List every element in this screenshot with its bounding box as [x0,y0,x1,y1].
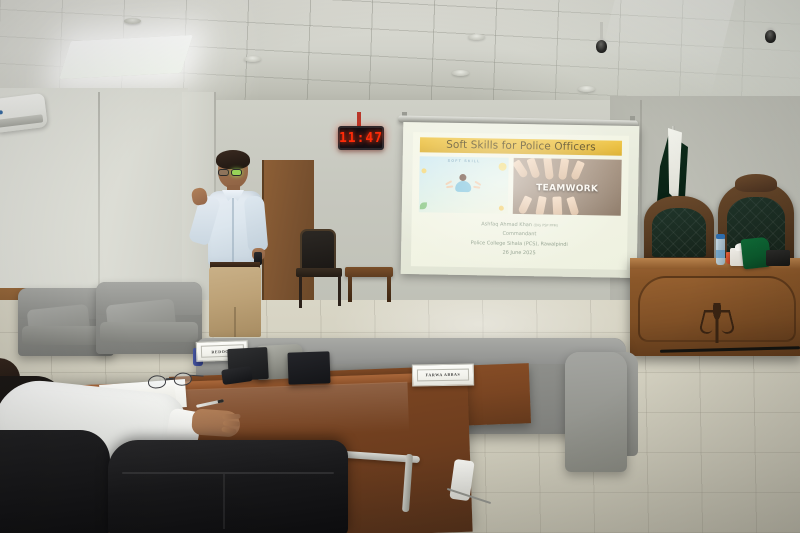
finger [223,420,240,426]
side-table-leg [387,276,391,302]
eyeglasses-icon [218,169,229,176]
soft-skill-label: SOFT SKILL [420,158,509,164]
hand-icon [526,158,540,179]
wooden-side-chair-back [300,229,336,271]
desk-equipment-box [766,250,790,266]
camera-stem [600,22,603,42]
clock-time-display: 11:47 [339,131,383,146]
teamwork-photo: TEAMWORK [513,158,622,216]
finger [222,414,240,420]
side-table-leg [348,276,352,302]
crescent-icon [750,247,761,258]
slide-title: Soft Skills for Police Officers [420,137,622,156]
presenter-person [196,152,288,336]
presenter-name: Ashfaq Ahmad Khan [481,221,532,228]
water-bottle [716,238,725,265]
desk-front-panel [638,276,796,342]
armchair-seat [100,322,198,342]
lightbulb-icon [421,168,426,173]
attendee-hand [191,408,241,437]
person-figure-icon [448,168,479,199]
bottle-label [716,250,725,258]
armchair-carved-crest [735,174,778,192]
smoke-detector-icon [468,34,485,40]
figure-arm [447,185,454,188]
placard-border: FARWA ABBAS [417,368,469,381]
hand-icon [566,196,579,216]
slide-body-text: Ashfaq Ahmad Khan (DIG PSP PPM) Commanda… [418,219,621,260]
hand-icon [517,195,532,215]
smoke-detector-icon [452,70,469,76]
chair-stitching [122,472,333,474]
air-conditioner-unit [0,93,48,133]
chair-leg [338,276,341,306]
hand-icon [558,158,569,180]
ceiling-panel-light-icon [59,35,193,79]
teamwork-label: TEAMWORK [513,183,621,195]
sofa-side-armrest [565,352,627,472]
hand-icon [543,158,554,180]
laptop-closed [287,351,330,384]
presenter-right-arm [244,195,269,252]
smoke-detector-icon [578,86,595,92]
chair-stitching [223,474,225,529]
side-table [345,267,393,277]
hand-icon [552,196,562,215]
chair-leg [299,276,302,308]
desk-carved-motif-icon [704,303,730,343]
ac-status-led-icon [0,110,3,114]
leaf-icon [420,202,427,209]
security-camera-icon [596,40,607,53]
figure-body [456,181,472,192]
smoke-detector-icon [124,18,141,24]
slide-images: SOFT SKILL [419,156,622,216]
office-chair [0,430,110,533]
digital-clock: 11:47 [338,126,384,150]
wall-seam [98,92,100,292]
ac-vent [0,114,43,128]
decorative-dot-icon [499,206,504,211]
presentation-slide: Soft Skills for Police Officers SOFT SKI… [411,132,629,270]
conference-room-photo: 11:47 Soft Skills for Police Officers SO… [0,0,800,533]
office-chair [108,440,348,533]
presenter-trousers [209,267,261,337]
sun-icon [498,163,506,171]
finger [221,427,237,435]
smoke-detector-icon [244,56,261,62]
placard-name: FARWA ABBAS [426,372,461,378]
figure-head [460,174,467,181]
security-camera-icon [765,30,776,43]
hand-icon [535,196,547,216]
grey-armchair [96,282,202,354]
green-armchair [644,196,714,264]
bottle-cap [716,234,725,239]
soft-skills-illustration: SOFT SKILL [419,156,509,214]
name-placard: FARWA ABBAS [412,363,474,386]
commandant-desk [630,258,800,356]
hand-icon [570,160,585,181]
eyeglasses-icon [231,169,242,176]
wooden-side-chair-seat [296,268,342,277]
projection-screen: Soft Skills for Police Officers SOFT SKI… [401,122,640,278]
presenter-postnominals: (DIG PSP PPM) [534,223,558,227]
figure-arm [474,185,481,188]
shirt-placket [232,198,234,262]
trouser-seam [234,307,236,337]
armchair-tufted-padding [652,208,705,257]
presenter-hair [216,150,250,169]
